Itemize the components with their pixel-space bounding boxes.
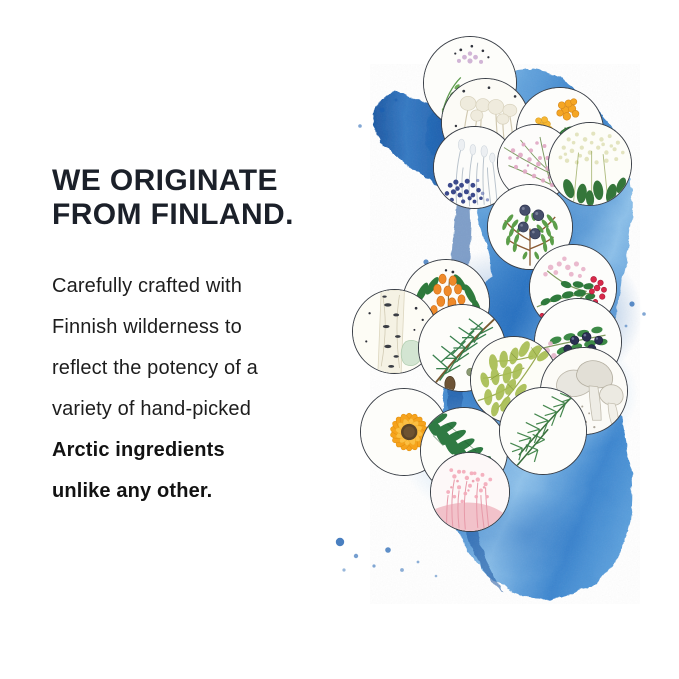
body-line-emphasis: unlike any other.: [52, 471, 352, 512]
text-panel: WE ORIGINATE FROM FINLAND. Carefully cra…: [52, 164, 352, 512]
body-line: Finnish wilderness to: [52, 307, 352, 348]
meadowsweet-illustration: [549, 123, 631, 205]
body-line-emphasis: Arctic ingredients: [52, 430, 352, 471]
pink-grass-illustration: [431, 453, 509, 531]
page-title: WE ORIGINATE FROM FINLAND.: [52, 164, 352, 232]
spruce-illustration: [500, 388, 586, 474]
body-line: Carefully crafted with: [52, 266, 352, 307]
brand-graphic-canvas: WE ORIGINATE FROM FINLAND. Carefully cra…: [0, 0, 679, 679]
body-line: reflect the potency of a: [52, 348, 352, 389]
circle-pink-grass: [430, 452, 510, 532]
body-copy: Carefully crafted with Finnish wildernes…: [52, 266, 352, 512]
circle-meadowsweet: [548, 122, 632, 206]
circle-spruce-needles: [499, 387, 587, 475]
body-line: variety of hand-picked: [52, 389, 352, 430]
finland-map-illustration: [330, 14, 679, 679]
